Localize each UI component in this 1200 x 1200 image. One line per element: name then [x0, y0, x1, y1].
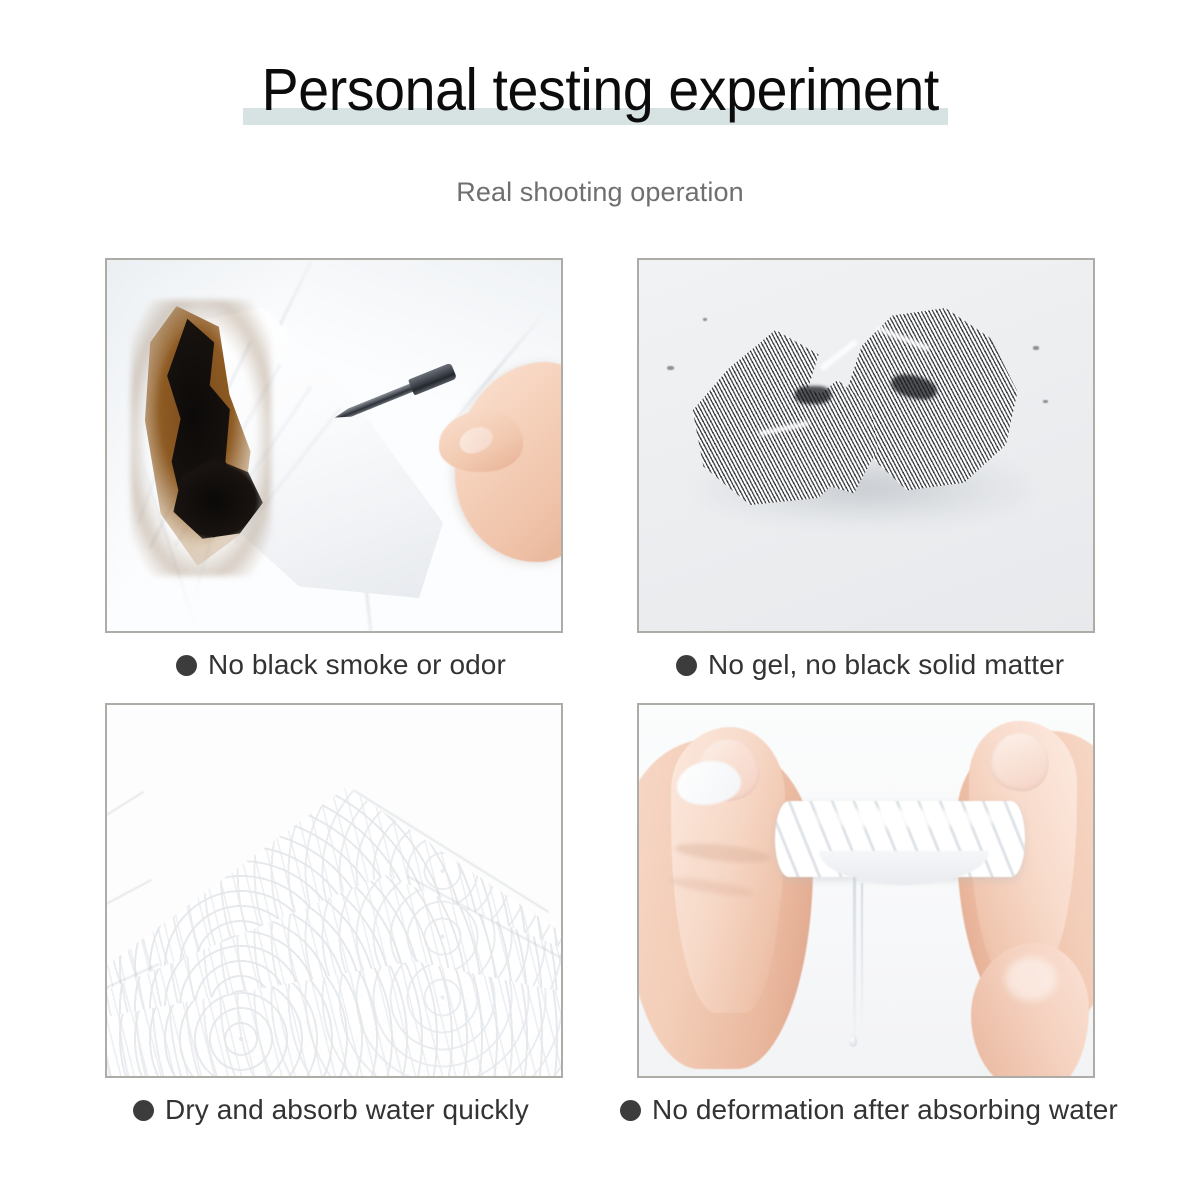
bullet-icon: [676, 655, 697, 676]
ash-speck: [1043, 400, 1048, 403]
caption-3-text: Dry and absorb water quickly: [165, 1094, 529, 1126]
bullet-icon: [620, 1100, 641, 1121]
ash-dark-crevice: [795, 386, 831, 404]
caption-1: No black smoke or odor: [176, 645, 506, 685]
feature-grid: No black smoke or odor No gel, no black …: [0, 0, 1200, 1200]
rope-wet-sheen: [789, 809, 1009, 827]
caption-4-text: No deformation after absorbing water: [652, 1094, 1118, 1126]
water-droplet: [849, 1035, 857, 1047]
feature-cell-2: [637, 258, 1095, 633]
water-drip-stream: [853, 877, 856, 1045]
bullet-icon: [133, 1100, 154, 1121]
caption-1-text: No black smoke or odor: [208, 649, 506, 681]
bullet-icon: [176, 655, 197, 676]
photo-gray-ash-residue: [637, 258, 1095, 633]
thumb-highlight: [1005, 957, 1057, 1001]
ash-speck: [667, 366, 674, 370]
water-drip-stream: [861, 883, 863, 1029]
feature-cell-3: [105, 703, 563, 1078]
feature-cell-1: [105, 258, 563, 633]
photo-embossed-tissue-sheet: [105, 703, 563, 1078]
feature-cell-4: [637, 703, 1095, 1078]
ash-speck: [703, 318, 707, 321]
photo-hands-twisting-wet-tissue: [637, 703, 1095, 1078]
ash-speck: [1033, 346, 1039, 350]
caption-4: No deformation after absorbing water: [620, 1090, 1118, 1130]
caption-2-text: No gel, no black solid matter: [708, 649, 1064, 681]
caption-2: No gel, no black solid matter: [676, 645, 1064, 685]
caption-3: Dry and absorb water quickly: [133, 1090, 529, 1130]
photo-burnt-tissue-tweezers: [105, 258, 563, 633]
